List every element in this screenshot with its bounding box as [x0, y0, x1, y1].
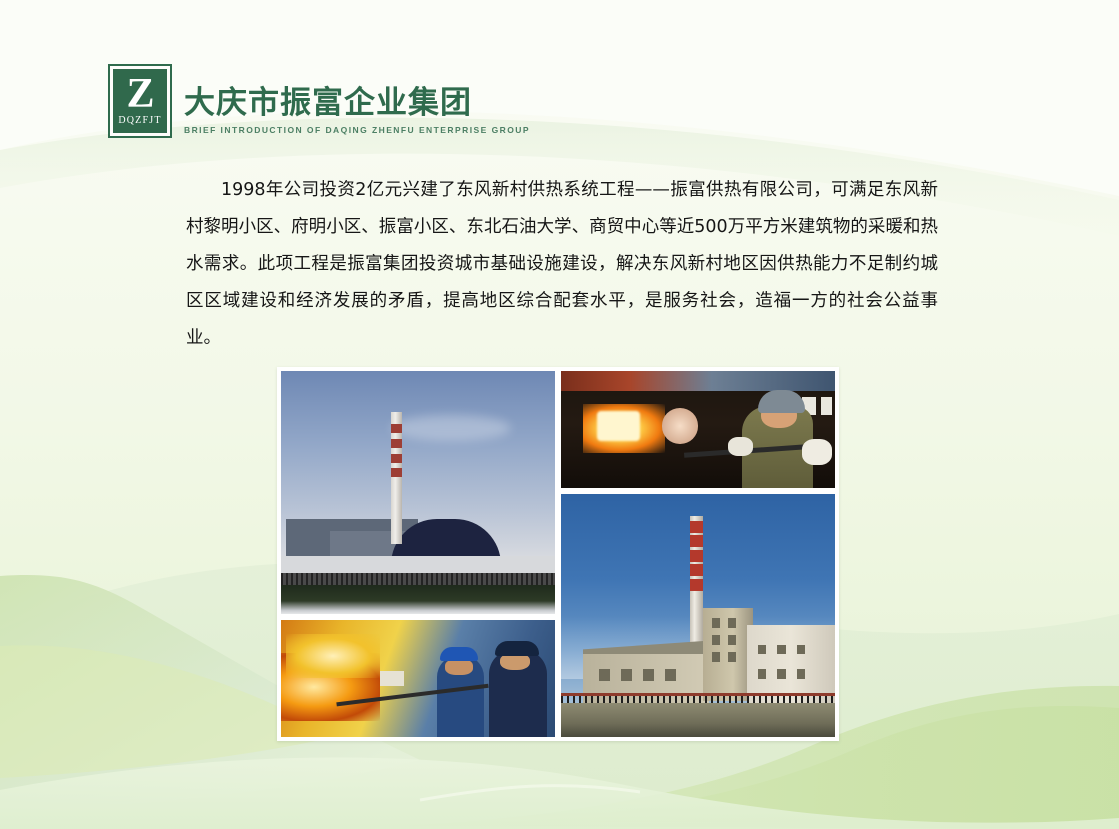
logo-abbreviation: DQZFJT: [118, 115, 161, 126]
collage-column-left: [281, 371, 555, 737]
company-name-cn: 大庆市振富企业集团: [184, 85, 530, 121]
company-name-en: BRIEF INTRODUCTION OF DAQING ZHENFU ENTE…: [184, 124, 530, 136]
photo-boiler-house-blue-sky: [561, 494, 835, 737]
logo-letter-z: Z: [126, 74, 153, 114]
intro-paragraph: 1998年公司投资2亿元兴建了东风新村供热系统工程——振富供热有限公司，可满足东…: [186, 172, 938, 357]
photo-collage: [277, 367, 839, 741]
brand-header: Z DQZFJT 大庆市振富企业集团 BRIEF INTRODUCTION OF…: [108, 64, 530, 138]
photo-heating-plant-dusk: [281, 371, 555, 614]
body-copy: 1998年公司投资2亿元兴建了东风新村供热系统工程——振富供热有限公司，可满足东…: [186, 172, 938, 357]
photo-workers-control-panel: [281, 620, 555, 737]
slide-page: Z DQZFJT 大庆市振富企业集团 BRIEF INTRODUCTION OF…: [0, 0, 1119, 829]
company-name-block: 大庆市振富企业集团 BRIEF INTRODUCTION OF DAQING Z…: [184, 85, 530, 138]
company-logo-mark: Z DQZFJT: [108, 64, 172, 138]
collage-column-right: [561, 371, 835, 737]
photo-furnace-operator: [561, 371, 835, 488]
